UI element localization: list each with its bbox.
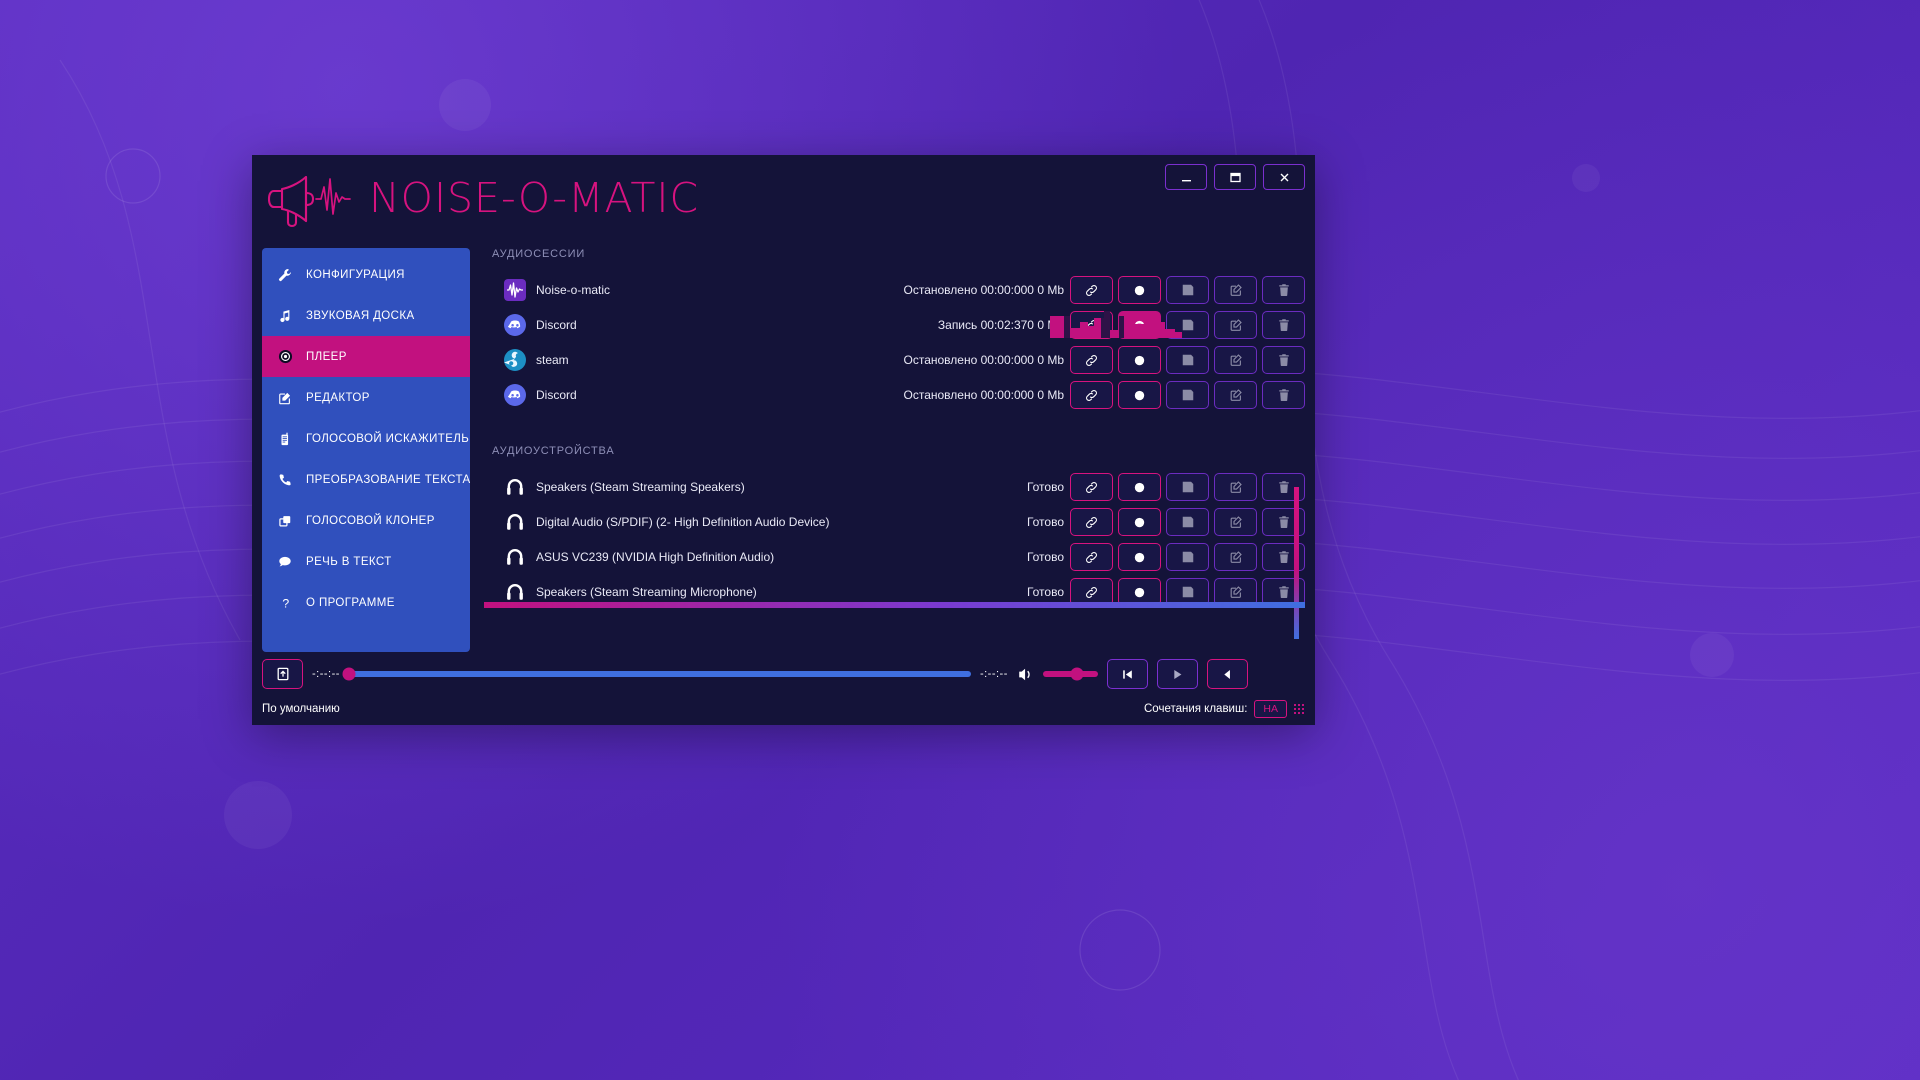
device-name: Speakers (Steam Streaming Speakers) [536,480,745,494]
sidebar-item-voice-changer[interactable]: ГОЛОСОВОЙ ИСКАЖИТЕЛЬ [262,418,470,459]
volume-knob[interactable] [1070,668,1083,681]
sidebar-item-label: ПРЕОБРАЗОВАНИЕ ТЕКСТА В РЕЧЬ [306,474,470,486]
sidebar-item-label: ГОЛОСОВОЙ КЛОНЕР [306,515,435,527]
device-name: Speakers (Steam Streaming Microphone) [536,585,757,599]
session-actions [1070,381,1305,409]
hotkeys-toggle[interactable]: НА [1254,700,1287,718]
table-row: Digital Audio (S/PDIF) (2- High Definiti… [484,505,1305,539]
question-icon: ? [278,594,298,612]
previous-button[interactable] [1107,659,1148,689]
hotkeys-label: Сочетания клавиш: [1144,703,1247,715]
resize-grip-icon[interactable] [1294,704,1305,714]
sidebar-item-text-to-speech[interactable]: ПРЕОБРАЗОВАНИЕ ТЕКСТА В РЕЧЬ [262,459,470,500]
maximize-icon [1229,171,1242,184]
app-logo: NOISE-O-MATIC [266,167,699,229]
close-icon [1278,171,1291,184]
delete-button[interactable] [1262,346,1305,374]
sidebar-item-speech-to-text[interactable]: РЕЧЬ В ТЕКСТ [262,541,470,582]
devices-section-title: АУДИОУСТРОЙСТВА [492,445,1305,457]
device-name: ASUS VC239 (NVIDIA High Definition Audio… [536,550,774,564]
total-time: -:--:-- [980,668,1008,680]
session-actions [1070,276,1305,304]
session-status: Остановлено 00:00:000 0 Mb [904,353,1070,367]
window-controls [1165,164,1305,190]
headphones-icon [504,546,526,568]
record-button[interactable] [1118,473,1161,501]
save-button[interactable] [1166,508,1209,536]
volume-slider[interactable] [1043,671,1098,677]
table-row: Discord Остановлено 00:00:000 0 Mb [484,378,1305,412]
disc-icon [278,348,298,366]
minimize-icon [1180,171,1193,184]
status-bar: По умолчанию Сочетания клавиш: НА [262,699,1305,719]
session-status: Остановлено 00:00:000 0 Mb [904,283,1070,297]
seek-track[interactable] [349,671,971,677]
headphones-icon [504,511,526,533]
session-name: Noise-o-matic [536,283,610,297]
sidebar-item-label: РЕДАКТОР [306,392,370,404]
save-button[interactable] [1166,276,1209,304]
headphones-icon [504,476,526,498]
play-button[interactable] [1157,659,1198,689]
session-actions [1070,346,1305,374]
player-bar: -:--:-- -:--:-- [262,657,1305,691]
sidebar-item-label: РЕЧЬ В ТЕКСТ [306,556,392,568]
sidebar-item-editor[interactable]: РЕДАКТОР [262,377,470,418]
edit-button[interactable] [1214,276,1257,304]
megaphone-icon [266,167,371,229]
edit-button[interactable] [1214,311,1257,339]
table-row: Speakers (Steam Streaming Speakers) Гото… [484,470,1305,504]
edit-button[interactable] [1214,473,1257,501]
link-button[interactable] [1070,473,1113,501]
output-level-meter-vertical [1294,487,1299,639]
edit-button[interactable] [1214,346,1257,374]
link-button[interactable] [1070,508,1113,536]
sidebar-item-configuration[interactable]: КОНФИГУРАЦИЯ [262,254,470,295]
delete-button[interactable] [1262,381,1305,409]
status-right: Сочетания клавиш: НА [1144,700,1305,718]
record-button[interactable] [1118,381,1161,409]
sidebar-item-label: ПЛЕЕР [306,351,347,363]
device-status: Готово [1027,480,1070,494]
device-actions [1070,508,1305,536]
link-button[interactable] [1070,381,1113,409]
link-button[interactable] [1070,346,1113,374]
maximize-button[interactable] [1214,164,1256,190]
sidebar-item-soundboard[interactable]: ЗВУКОВАЯ ДОСКА [262,295,470,336]
sidebar-item-voice-cloner[interactable]: ГОЛОСОВОЙ КЛОНЕР [262,500,470,541]
volume-icon[interactable] [1017,666,1034,683]
chat-icon [278,553,298,571]
session-status: Остановлено 00:00:000 0 Mb [904,388,1070,402]
headphones-icon [504,581,526,603]
recording-waveform [1050,311,1182,338]
sidebar-item-player[interactable]: ПЛЕЕР [262,336,470,377]
status-preset-label: По умолчанию [262,703,340,715]
save-button[interactable] [1166,543,1209,571]
table-row: Noise-o-matic Остановлено 00:00:000 0 Mb [484,273,1305,307]
sidebar-item-label: КОНФИГУРАЦИЯ [306,269,405,281]
open-file-button[interactable] [262,659,303,689]
edit-button[interactable] [1214,508,1257,536]
edit-icon [278,389,298,407]
edit-button[interactable] [1214,543,1257,571]
radio-icon [278,430,298,448]
seek-knob[interactable] [342,668,355,681]
record-button[interactable] [1118,543,1161,571]
noise-o-matic-icon [504,279,526,301]
wrench-icon [278,266,298,284]
sidebar-item-about[interactable]: ? О ПРОГРАММЕ [262,582,470,623]
device-actions [1070,473,1305,501]
sidebar-item-label: ГОЛОСОВОЙ ИСКАЖИТЕЛЬ [306,433,469,445]
device-name: Digital Audio (S/PDIF) (2- High Definiti… [536,515,829,529]
svg-text:?: ? [282,596,289,610]
sessions-list: Noise-o-matic Остановлено 00:00:000 0 Mb [484,273,1305,412]
device-status: Готово [1027,550,1070,564]
music-note-icon [278,307,298,325]
minimize-button[interactable] [1165,164,1207,190]
steam-icon [504,349,526,371]
phone-icon [278,471,298,489]
delete-button[interactable] [1262,311,1305,339]
link-button[interactable] [1070,543,1113,571]
save-button[interactable] [1166,346,1209,374]
delete-button[interactable] [1262,276,1305,304]
waveform-bar [1181,332,1182,338]
table-row: steam Остановлено 00:00:000 0 Mb [484,343,1305,377]
seek-slider[interactable] [349,671,971,677]
link-button[interactable] [1070,276,1113,304]
session-name: steam [536,353,569,367]
app-title: NOISE-O-MATIC [369,174,699,222]
device-actions [1070,543,1305,571]
save-button[interactable] [1166,381,1209,409]
back-button[interactable] [1207,659,1248,689]
discord-icon [504,384,526,406]
session-name: Discord [536,388,577,402]
application-window: NOISE-O-MATIC КОНФИГУРАЦИЯ ЗВУКОВАЯ ДОСК… [252,155,1315,725]
record-button[interactable] [1118,346,1161,374]
close-button[interactable] [1263,164,1305,190]
copy-icon [278,512,298,530]
sidebar: КОНФИГУРАЦИЯ ЗВУКОВАЯ ДОСКА ПЛЕЕР [262,248,470,652]
record-button[interactable] [1118,508,1161,536]
sessions-section-title: АУДИОСЕССИИ [492,248,1305,260]
edit-button[interactable] [1214,381,1257,409]
record-button[interactable] [1118,276,1161,304]
output-level-meter-horizontal [484,602,1305,608]
table-row: Discord Запись 00:02:370 0 Mb [484,308,1305,342]
device-status: Готово [1027,515,1070,529]
table-row: ASUS VC239 (NVIDIA High Definition Audio… [484,540,1305,574]
content-area: АУДИОСЕССИИ Noise-o-matic Остановлено 00… [484,248,1305,645]
sidebar-item-label: ЗВУКОВАЯ ДОСКА [306,310,415,322]
device-status: Готово [1027,585,1070,599]
discord-icon [504,314,526,336]
current-time: -:--:-- [312,668,340,680]
session-name: Discord [536,318,577,332]
sidebar-item-label: О ПРОГРАММЕ [306,597,395,609]
devices-list: Speakers (Steam Streaming Speakers) Гото… [484,470,1305,609]
save-button[interactable] [1166,473,1209,501]
